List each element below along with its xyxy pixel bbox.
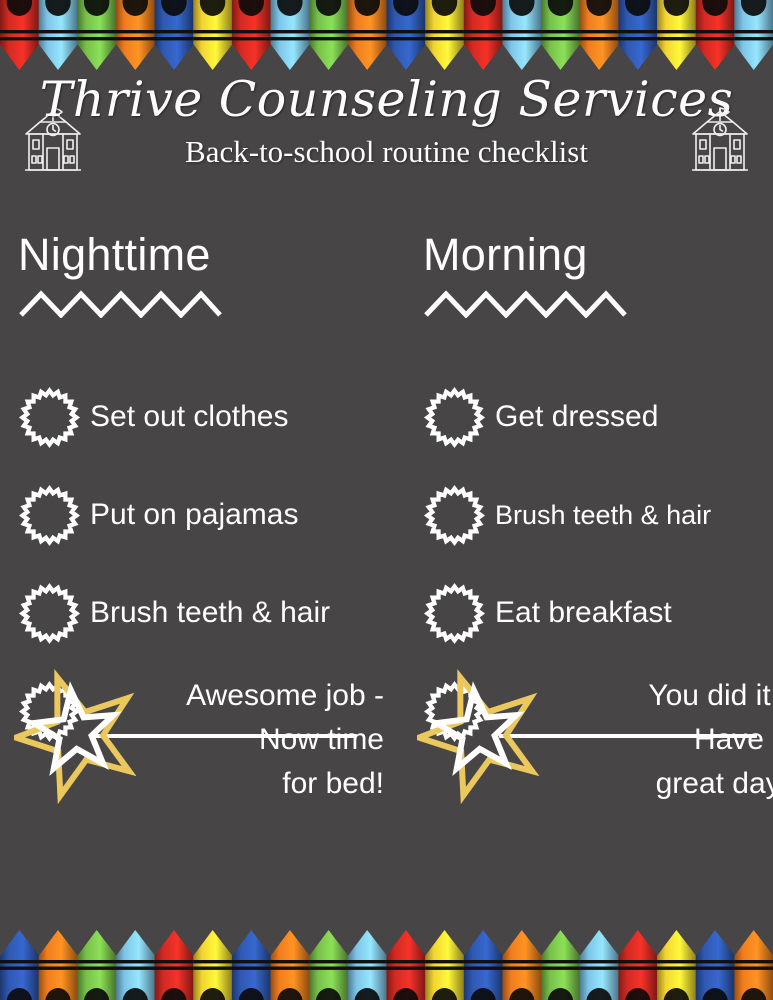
crayon-border-top <box>0 0 773 70</box>
list-item-label: Brush teeth & hair <box>90 596 330 630</box>
list-item-label: Set out clothes <box>90 400 288 434</box>
reward-morning: You did it - Have a great day! <box>387 658 773 806</box>
crayon-border-bottom <box>0 930 773 1000</box>
column-title: Morning <box>423 228 773 282</box>
checklist-columns: Nighttime Set out clothes <box>0 228 773 918</box>
starburst-checkbox[interactable] <box>423 484 486 547</box>
column-morning: Morning Get dressed <box>387 228 773 918</box>
list-item[interactable]: Put on pajamas <box>0 466 386 564</box>
reward-line: great day! <box>549 762 773 806</box>
page-subtitle: Back-to-school routine checklist <box>0 130 773 174</box>
star-icon <box>417 666 545 806</box>
page-title: Thrive Counseling Services <box>0 68 773 132</box>
reward-text: You did it - Have a great day! <box>549 658 773 806</box>
column-title: Nighttime <box>18 228 404 282</box>
list-item-label: Brush teeth & hair <box>495 498 711 532</box>
zigzag-divider <box>423 288 773 318</box>
list-item[interactable]: Set out clothes <box>0 368 386 466</box>
list-item-label: Get dressed <box>495 400 658 434</box>
school-building-icon <box>681 102 759 180</box>
reward-line: Awesome job - <box>146 674 384 718</box>
column-header-morning: Morning <box>387 228 773 318</box>
starburst-checkbox[interactable] <box>18 582 81 645</box>
starburst-checkbox[interactable] <box>18 484 81 547</box>
list-item[interactable]: Brush teeth & hair <box>0 564 386 662</box>
starburst-checkbox[interactable] <box>423 386 486 449</box>
reward-line: You did it - <box>549 674 773 718</box>
reward-nighttime: Awesome job - Now time for bed! <box>0 658 400 806</box>
starburst-checkbox[interactable] <box>423 582 486 645</box>
star-icon <box>14 666 142 806</box>
zigzag-divider <box>18 288 404 318</box>
checklist-poster: Thrive Counseling Services Back-to-schoo… <box>0 0 773 1000</box>
reward-line: Have a <box>549 718 773 762</box>
list-item-label: Eat breakfast <box>495 596 672 630</box>
list-item[interactable]: Get dressed <box>387 368 773 466</box>
column-header-nighttime: Nighttime <box>0 228 404 318</box>
list-item-label: Put on pajamas <box>90 498 298 532</box>
reward-text: Awesome job - Now time for bed! <box>146 658 400 806</box>
list-item[interactable]: Brush teeth & hair <box>387 466 773 564</box>
list-item[interactable]: Eat breakfast <box>387 564 773 662</box>
reward-line: for bed! <box>146 762 384 806</box>
poster-header: Thrive Counseling Services Back-to-schoo… <box>0 72 773 202</box>
starburst-checkbox[interactable] <box>18 386 81 449</box>
reward-line: Now time <box>146 718 384 762</box>
column-nighttime: Nighttime Set out clothes <box>0 228 386 918</box>
